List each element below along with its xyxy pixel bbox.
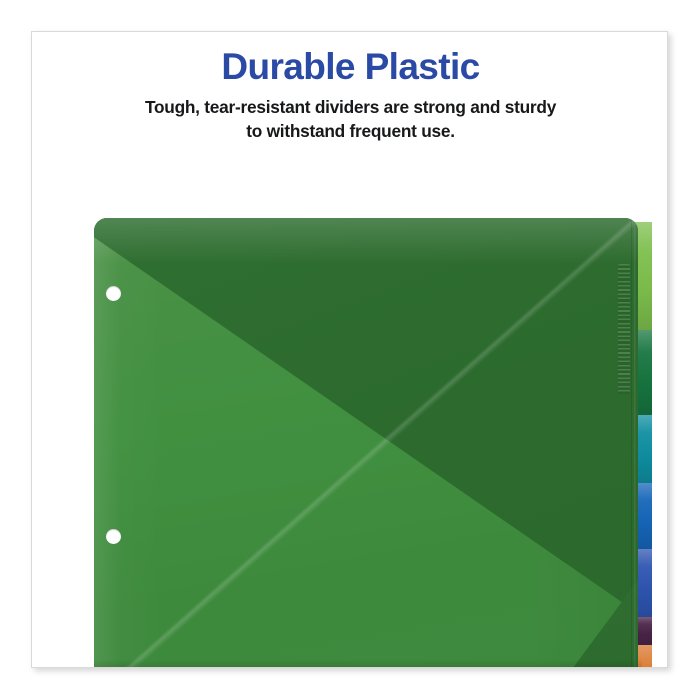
plastic-pocket-divider <box>94 218 638 668</box>
subtitle-line-2: to withstand frequent use. <box>246 121 455 141</box>
header-block: Durable Plastic Tough, tear-resistant di… <box>32 48 668 144</box>
page-subtitle: Tough, tear-resistant dividers are stron… <box>63 96 638 144</box>
top-punch-hole <box>106 286 121 301</box>
ribbed-binding-strip <box>618 264 630 394</box>
product-image-stage: Durable Plastic Tough, tear-resistant di… <box>0 0 700 700</box>
bottom-punch-hole <box>106 529 121 544</box>
binding-edge-highlight <box>634 218 637 668</box>
subtitle-line-1: Tough, tear-resistant dividers are stron… <box>145 97 556 117</box>
binding-edge-seam <box>631 218 632 668</box>
product-image-frame: Durable Plastic Tough, tear-resistant di… <box>31 31 668 668</box>
page-title: Durable Plastic <box>32 48 668 87</box>
